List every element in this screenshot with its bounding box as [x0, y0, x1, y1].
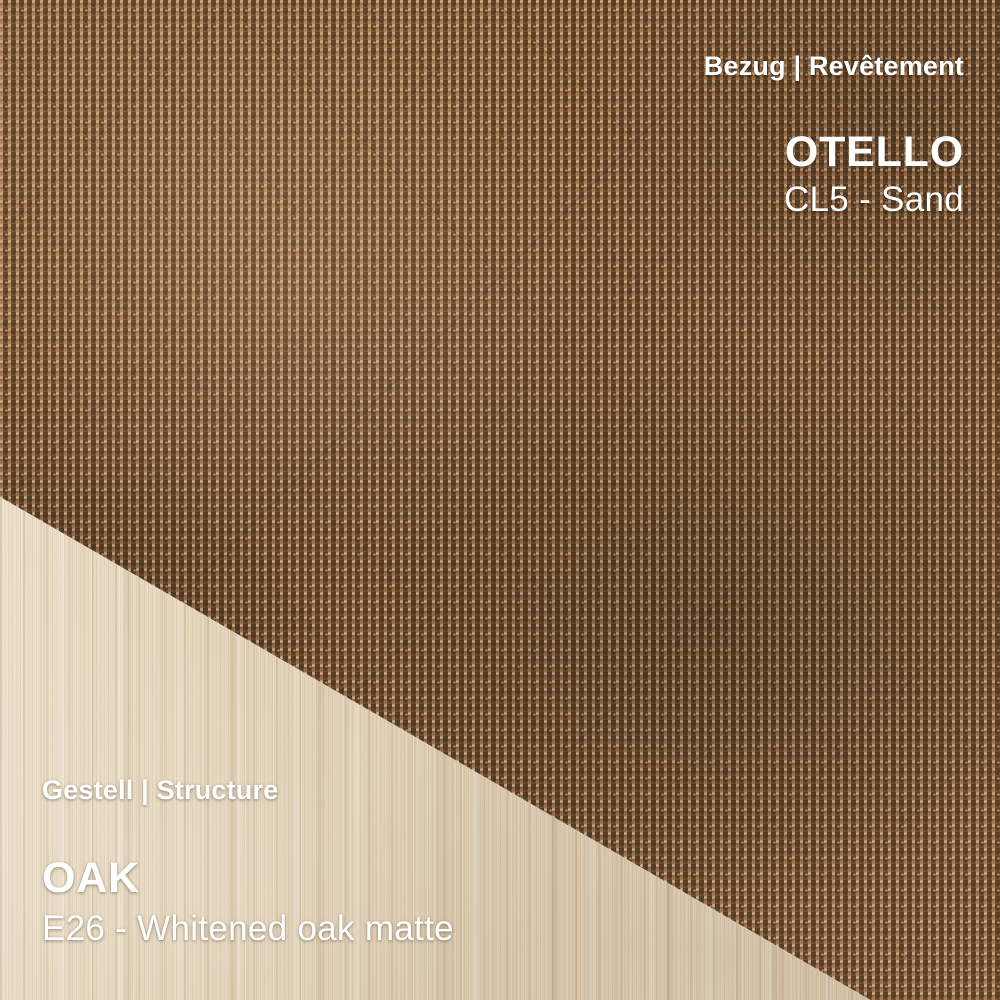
material-swatch-card: Bezug | Revêtement OTELLO CL5 - Sand Ges…	[0, 0, 1000, 1000]
fabric-category-label: Bezug | Revêtement	[704, 52, 964, 80]
frame-category-label: Gestell | Structure	[42, 776, 454, 804]
frame-info-block: Gestell | Structure OAK E26 - Whitened o…	[42, 776, 454, 948]
fabric-info-block: Bezug | Revêtement OTELLO CL5 - Sand	[704, 52, 964, 220]
fabric-material-name: OTELLO	[704, 130, 964, 175]
fabric-material-code: CL5 - Sand	[704, 181, 964, 220]
frame-material-code: E26 - Whitened oak matte	[42, 910, 454, 949]
frame-material-name: OAK	[42, 856, 454, 901]
